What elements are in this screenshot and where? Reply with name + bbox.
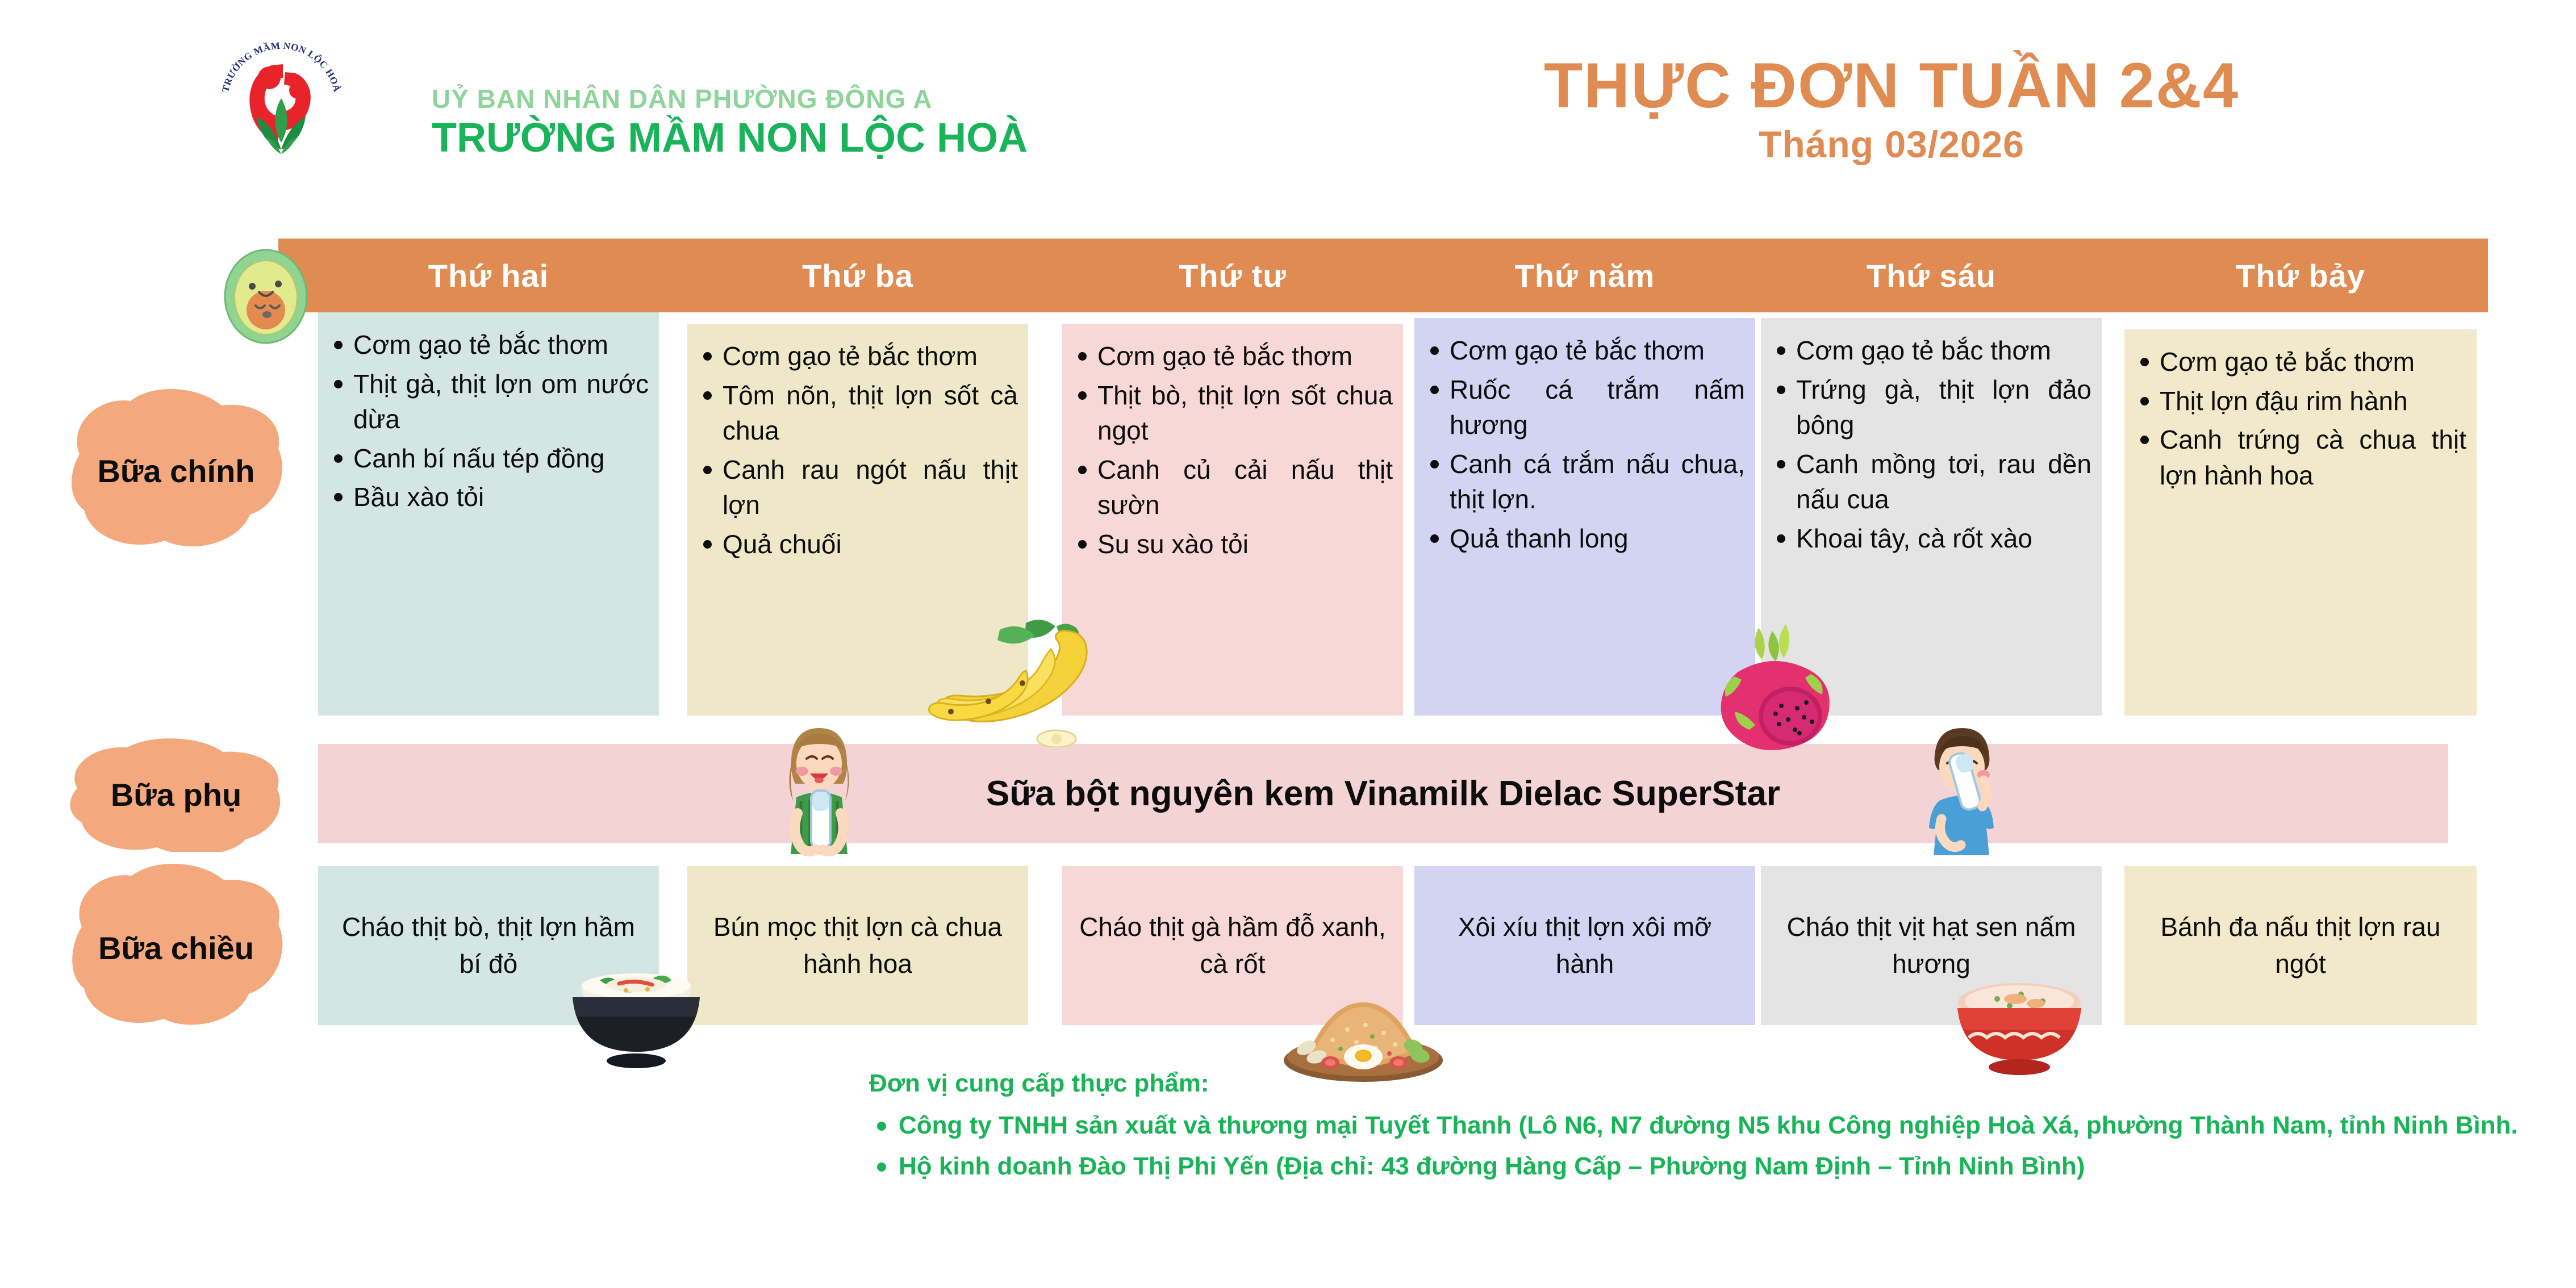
main-meal-cell-fri: Cơm gạo tẻ bắc thơm Trứng gà, thịt lợn đ… bbox=[1761, 318, 2102, 716]
day-header-tue: Thứ ba bbox=[687, 239, 1028, 312]
evening-meal-cell-fri: Cháo thịt vịt hạt sen nấm hương bbox=[1761, 866, 2102, 1025]
day-header-fri: Thứ sáu bbox=[1761, 239, 2102, 312]
menu-item: Canh bí nấu tép đồng bbox=[328, 441, 649, 476]
evening-meal-cell-wed: Cháo thịt gà hầm đỗ xanh, cà rốt bbox=[1062, 866, 1403, 1025]
row-label-snack: Bữa phụ bbox=[62, 738, 290, 852]
main-meal-cell-wed: Cơm gạo tẻ bắc thơm Thịt bò, thịt lợn số… bbox=[1062, 324, 1403, 716]
menu-item: Quả thanh long bbox=[1425, 521, 1745, 557]
menu-item: Cơm gạo tẻ bắc thơm bbox=[1425, 333, 1745, 369]
menu-item: Su su xào tỏi bbox=[1072, 526, 1393, 562]
main-meal-list-tue: Cơm gạo tẻ bắc thơm Tôm nõn, thịt lợn số… bbox=[698, 338, 1018, 562]
day-header-thu: Thứ năm bbox=[1414, 239, 1755, 312]
main-meal-cell-thu: Cơm gạo tẻ bắc thơm Ruốc cá trắm nấm hươ… bbox=[1414, 318, 1755, 716]
menu-item: Cơm gạo tẻ bắc thơm bbox=[2135, 344, 2466, 380]
evening-meal-cell-sat: Bánh đa nấu thịt lợn rau ngót bbox=[2124, 866, 2477, 1025]
row-label-evening-text: Bữa chiều bbox=[98, 930, 254, 967]
menu-item: Tôm nõn, thịt lợn sốt cà chua bbox=[698, 378, 1018, 449]
menu-item: Thịt bò, thịt lợn sốt chua ngọt bbox=[1072, 378, 1393, 449]
menu-item: Quả chuối bbox=[698, 526, 1018, 562]
menu-item: Cơm gạo tẻ bắc thơm bbox=[1771, 333, 2091, 369]
evening-meal-cell-thu: Xôi xíu thịt lợn xôi mỡ hành bbox=[1414, 866, 1755, 1025]
main-meal-list-thu: Cơm gạo tẻ bắc thơm Ruốc cá trắm nấm hươ… bbox=[1425, 333, 1745, 556]
day-header-mon: Thứ hai bbox=[318, 239, 659, 312]
evening-meal-cell-mon: Cháo thịt bò, thịt lợn hầm bí đỏ bbox=[318, 866, 659, 1025]
main-meal-list-wed: Cơm gạo tẻ bắc thơm Thịt bò, thịt lợn số… bbox=[1072, 338, 1393, 562]
supplier-footer: Đơn vị cung cấp thực phẩm: Công ty TNHH … bbox=[869, 1068, 2550, 1189]
menu-item: Khoai tây, cà rốt xào bbox=[1771, 521, 2091, 557]
menu-item: Thịt gà, thịt lợn om nước dừa bbox=[328, 366, 649, 437]
row-label-snack-text: Bữa phụ bbox=[111, 777, 241, 813]
supplier-list: Công ty TNHH sản xuất và thương mại Tuyế… bbox=[869, 1107, 2550, 1185]
menu-item: Cơm gạo tẻ bắc thơm bbox=[698, 338, 1018, 374]
menu-item: Canh củ cải nấu thịt sườn bbox=[1072, 452, 1393, 523]
menu-item: Canh cá trắm nấu chua, thịt lợn. bbox=[1425, 446, 1745, 517]
menu-item: Cơm gạo tẻ bắc thơm bbox=[328, 327, 649, 363]
main-meal-list-mon: Cơm gạo tẻ bắc thơm Thịt gà, thịt lợn om… bbox=[328, 327, 649, 515]
row-label-main-meal-text: Bữa chính bbox=[97, 453, 254, 490]
menu-item: Canh rau ngót nấu thịt lợn bbox=[698, 452, 1018, 523]
menu-item: Ruốc cá trắm nấm hương bbox=[1425, 372, 1745, 443]
menu-grid: Thứ hai Thứ ba Thứ tư Thứ năm Thứ sáu Th… bbox=[0, 0, 2576, 1288]
supplier-title: Đơn vị cung cấp thực phẩm: bbox=[869, 1068, 2550, 1099]
menu-item: Trứng gà, thịt lợn đảo bông bbox=[1771, 372, 2091, 443]
menu-item: Bầu xào tỏi bbox=[328, 479, 649, 515]
day-header-wed: Thứ tư bbox=[1062, 239, 1403, 312]
supplier-item: Công ty TNHH sản xuất và thương mại Tuyế… bbox=[869, 1107, 2550, 1144]
supplier-item: Hộ kinh doanh Đào Thị Phi Yến (Địa chỉ: … bbox=[869, 1148, 2550, 1185]
evening-meal-cell-tue: Bún mọc thịt lợn cà chua hành hoa bbox=[687, 866, 1028, 1025]
menu-item: Cơm gạo tẻ bắc thơm bbox=[1072, 338, 1393, 374]
main-meal-cell-tue: Cơm gạo tẻ bắc thơm Tôm nõn, thịt lợn số… bbox=[687, 324, 1028, 716]
menu-item: Thịt lợn đậu rim hành bbox=[2135, 383, 2466, 419]
menu-item: Canh mồng tơi, rau dền nấu cua bbox=[1771, 446, 2091, 517]
row-label-evening: Bữa chiều bbox=[62, 863, 290, 1034]
menu-item: Canh trứng cà chua thịt lợn hành hoa bbox=[2135, 422, 2466, 493]
main-meal-cell-mon: Cơm gạo tẻ bắc thơm Thịt gà, thịt lợn om… bbox=[318, 312, 659, 716]
snack-meal-text: Sữa bột nguyên kem Vinamilk Dielac Super… bbox=[318, 744, 2448, 843]
day-header-sat: Thứ bảy bbox=[2124, 239, 2477, 312]
main-meal-cell-sat: Cơm gạo tẻ bắc thơm Thịt lợn đậu rim hàn… bbox=[2124, 329, 2477, 716]
main-meal-list-fri: Cơm gạo tẻ bắc thơm Trứng gà, thịt lợn đ… bbox=[1771, 333, 2091, 556]
main-meal-list-sat: Cơm gạo tẻ bắc thơm Thịt lợn đậu rim hàn… bbox=[2135, 344, 2466, 493]
row-label-main-meal: Bữa chính bbox=[62, 386, 290, 557]
